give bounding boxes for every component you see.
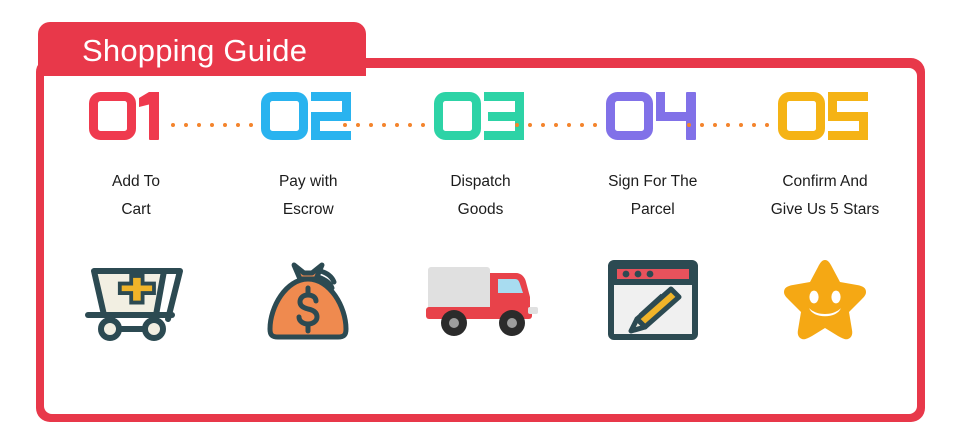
step-item-1: Add To Cart bbox=[50, 68, 222, 414]
connector-dot bbox=[554, 123, 558, 127]
step-number-row-5 bbox=[739, 68, 911, 164]
connector-dot bbox=[197, 123, 201, 127]
connector-dot bbox=[726, 123, 730, 127]
step-item-4: Sign For The Parcel bbox=[567, 68, 739, 414]
step-label-4: Sign For The Parcel bbox=[565, 168, 741, 224]
step-number-3 bbox=[432, 91, 530, 141]
smiling-star-icon bbox=[760, 252, 890, 348]
connector-dot bbox=[356, 123, 360, 127]
money-bag-icon bbox=[243, 252, 373, 348]
connector-dot bbox=[382, 123, 386, 127]
step-number-row-1 bbox=[50, 68, 222, 164]
step-item-3: Dispatch Goods bbox=[395, 68, 567, 414]
connector-dot bbox=[515, 123, 519, 127]
shopping-guide-banner: Shopping Guide bbox=[0, 0, 960, 432]
connector-dot bbox=[687, 123, 691, 127]
connector-dot bbox=[528, 123, 532, 127]
connector-dot bbox=[713, 123, 717, 127]
sign-document-icon bbox=[588, 252, 718, 348]
step-number-row-2 bbox=[222, 68, 394, 164]
shopping-cart-icon bbox=[71, 252, 201, 348]
step-number-4 bbox=[604, 91, 702, 141]
connector-dot bbox=[541, 123, 545, 127]
connector-dot bbox=[343, 123, 347, 127]
page-title: Shopping Guide bbox=[82, 30, 382, 72]
connector-dot bbox=[700, 123, 704, 127]
step-number-2 bbox=[259, 91, 357, 141]
step-label-1: Add To Cart bbox=[48, 168, 224, 224]
step-label-2: Pay with Escrow bbox=[220, 168, 396, 224]
steps-container: Add To Cart bbox=[44, 68, 917, 414]
step-number-1 bbox=[87, 91, 185, 141]
connector-dot bbox=[210, 123, 214, 127]
step-number-row-4 bbox=[567, 68, 739, 164]
connector-dot bbox=[184, 123, 188, 127]
step-item-5: Confirm And Give Us 5 Stars bbox=[739, 68, 911, 414]
connector-dot bbox=[171, 123, 175, 127]
step-label-3: Dispatch Goods bbox=[393, 168, 569, 224]
step-item-2: Pay with Escrow bbox=[222, 68, 394, 414]
connector-dot bbox=[369, 123, 373, 127]
step-number-5 bbox=[776, 91, 874, 141]
step-label-5: Confirm And Give Us 5 Stars bbox=[737, 168, 913, 224]
step-number-row-3 bbox=[395, 68, 567, 164]
delivery-truck-icon bbox=[416, 252, 546, 348]
